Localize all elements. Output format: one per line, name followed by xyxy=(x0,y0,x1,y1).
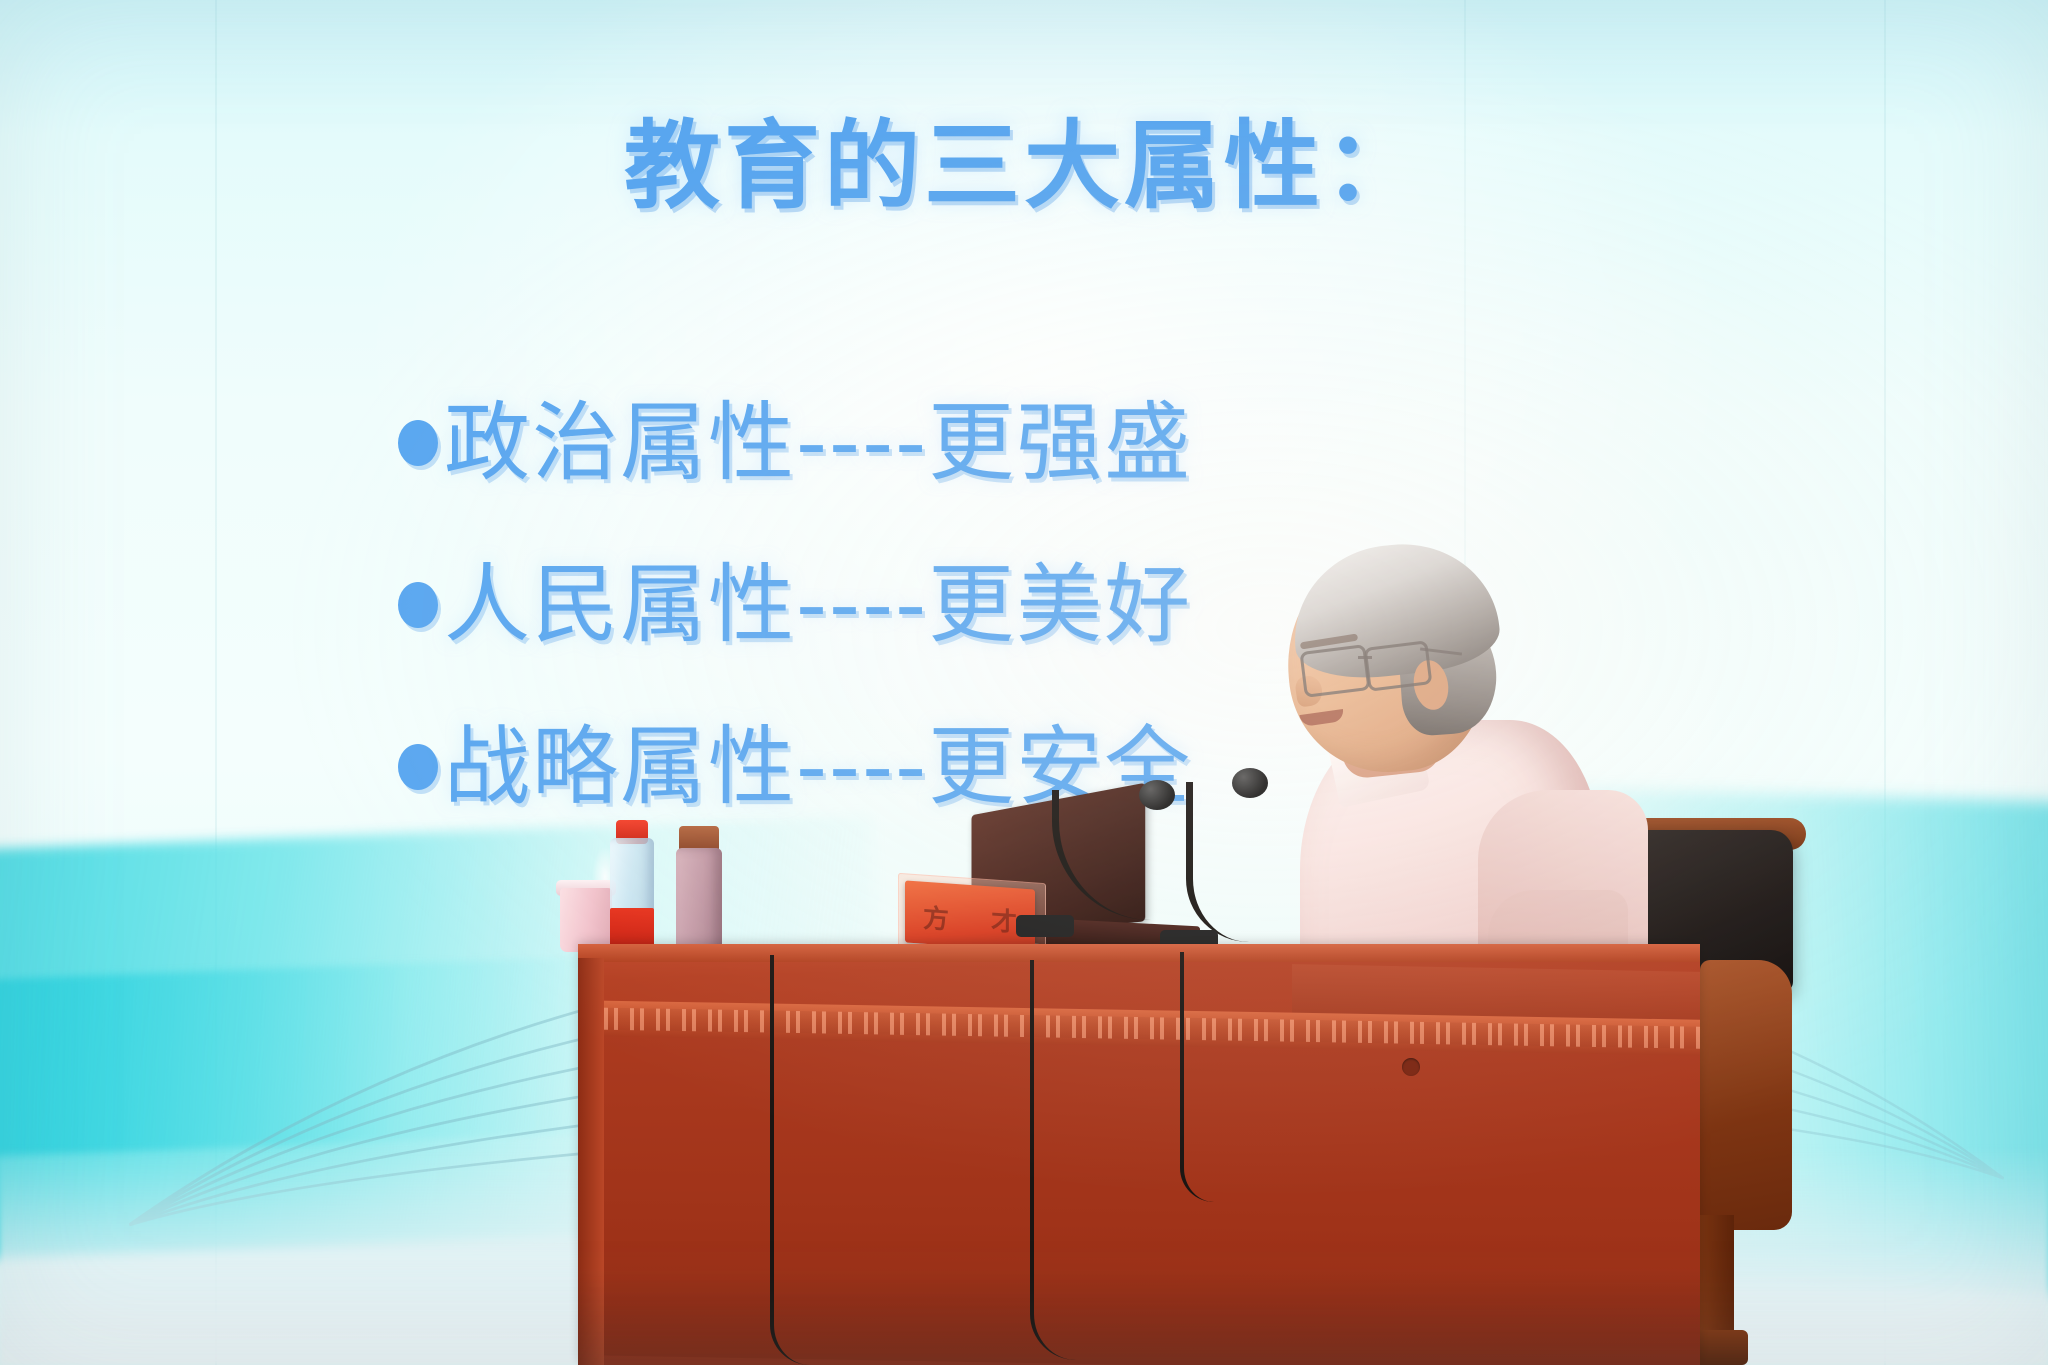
nameplate: 方 才 xyxy=(905,880,1035,951)
desk-top-surface xyxy=(578,944,1700,962)
slide-bullet-item: 人民属性----更美好 xyxy=(398,562,1798,648)
nameplate-char-left: 方 xyxy=(923,898,949,937)
thermos-flask xyxy=(676,848,722,956)
glasses-left-lens xyxy=(1299,644,1370,698)
nameplate-char-right: 才 xyxy=(991,900,1017,939)
slide-bullet-item: 政治属性----更强盛 xyxy=(398,400,1798,486)
chair-armrest xyxy=(1700,960,1792,1230)
glasses-bridge xyxy=(1358,656,1372,659)
lecture-hall-photo: 教育的三大属性： 政治属性----更强盛 人民属性----更美好 战略属性---… xyxy=(0,0,2048,1365)
slide-title: 教育的三大属性： xyxy=(0,88,2048,227)
paper-cup xyxy=(560,888,612,952)
bullet-dot-icon xyxy=(398,582,438,628)
bullet-dot-icon xyxy=(398,420,438,466)
bullet-dot-icon xyxy=(398,744,438,790)
slide-bullet-text: 人民属性----更美好 xyxy=(444,562,1192,648)
desk-grommet xyxy=(1402,1058,1420,1076)
cable-right xyxy=(1180,952,1214,1202)
slide-bullet-text: 政治属性----更强盛 xyxy=(444,400,1192,486)
microphone-base-left xyxy=(1016,915,1074,937)
cable-left xyxy=(770,955,810,1365)
desk-floor-shadow xyxy=(578,1270,1700,1365)
cable-middle xyxy=(1030,960,1076,1360)
